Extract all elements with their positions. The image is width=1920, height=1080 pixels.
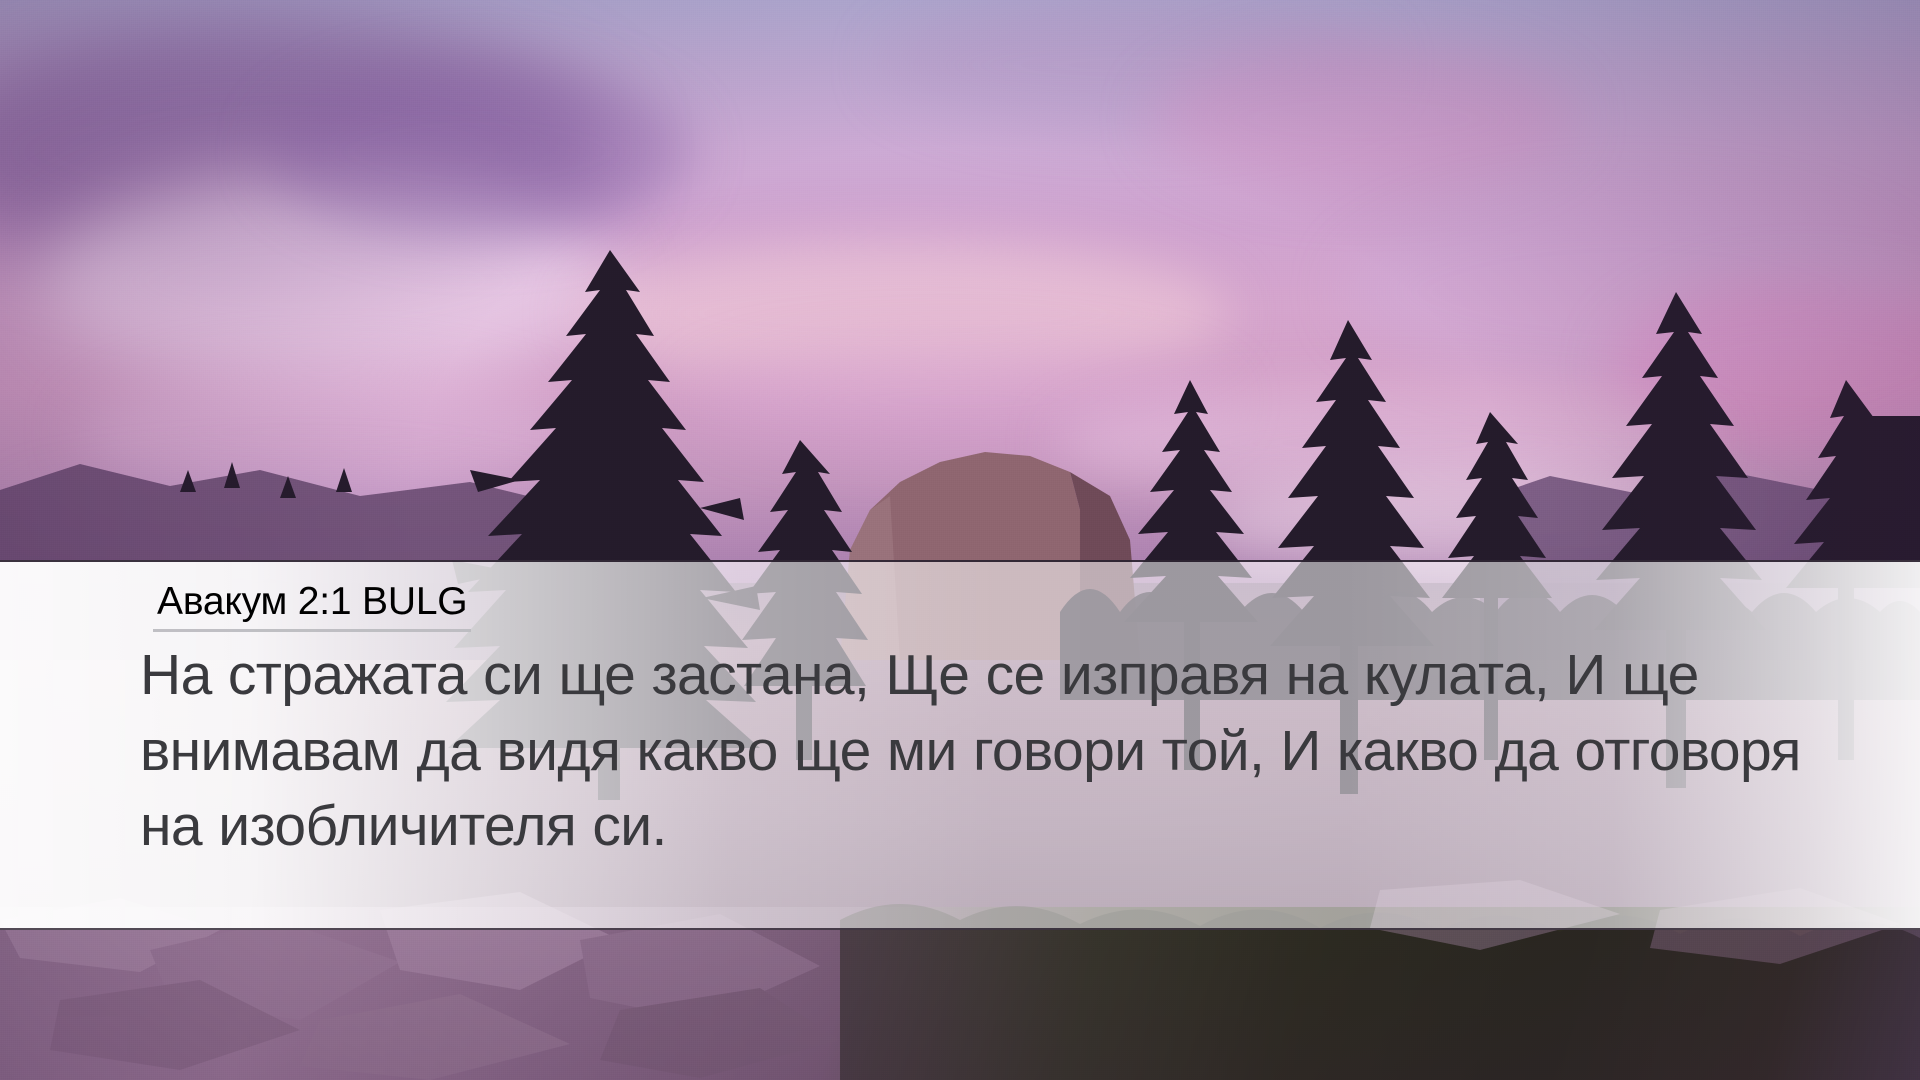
verse-body-text: На стражата си ще застана, Ще се изправя… xyxy=(140,638,1830,865)
verse-content: Авакум 2:1 BULG На стражата си ще застан… xyxy=(140,562,1880,865)
verse-image-canvas: Авакум 2:1 BULG На стражата си ще застан… xyxy=(0,0,1920,1080)
verse-overlay-panel: Авакум 2:1 BULG На стражата си ще застан… xyxy=(0,560,1920,930)
verse-reference-label: Авакум 2:1 BULG xyxy=(153,580,471,632)
